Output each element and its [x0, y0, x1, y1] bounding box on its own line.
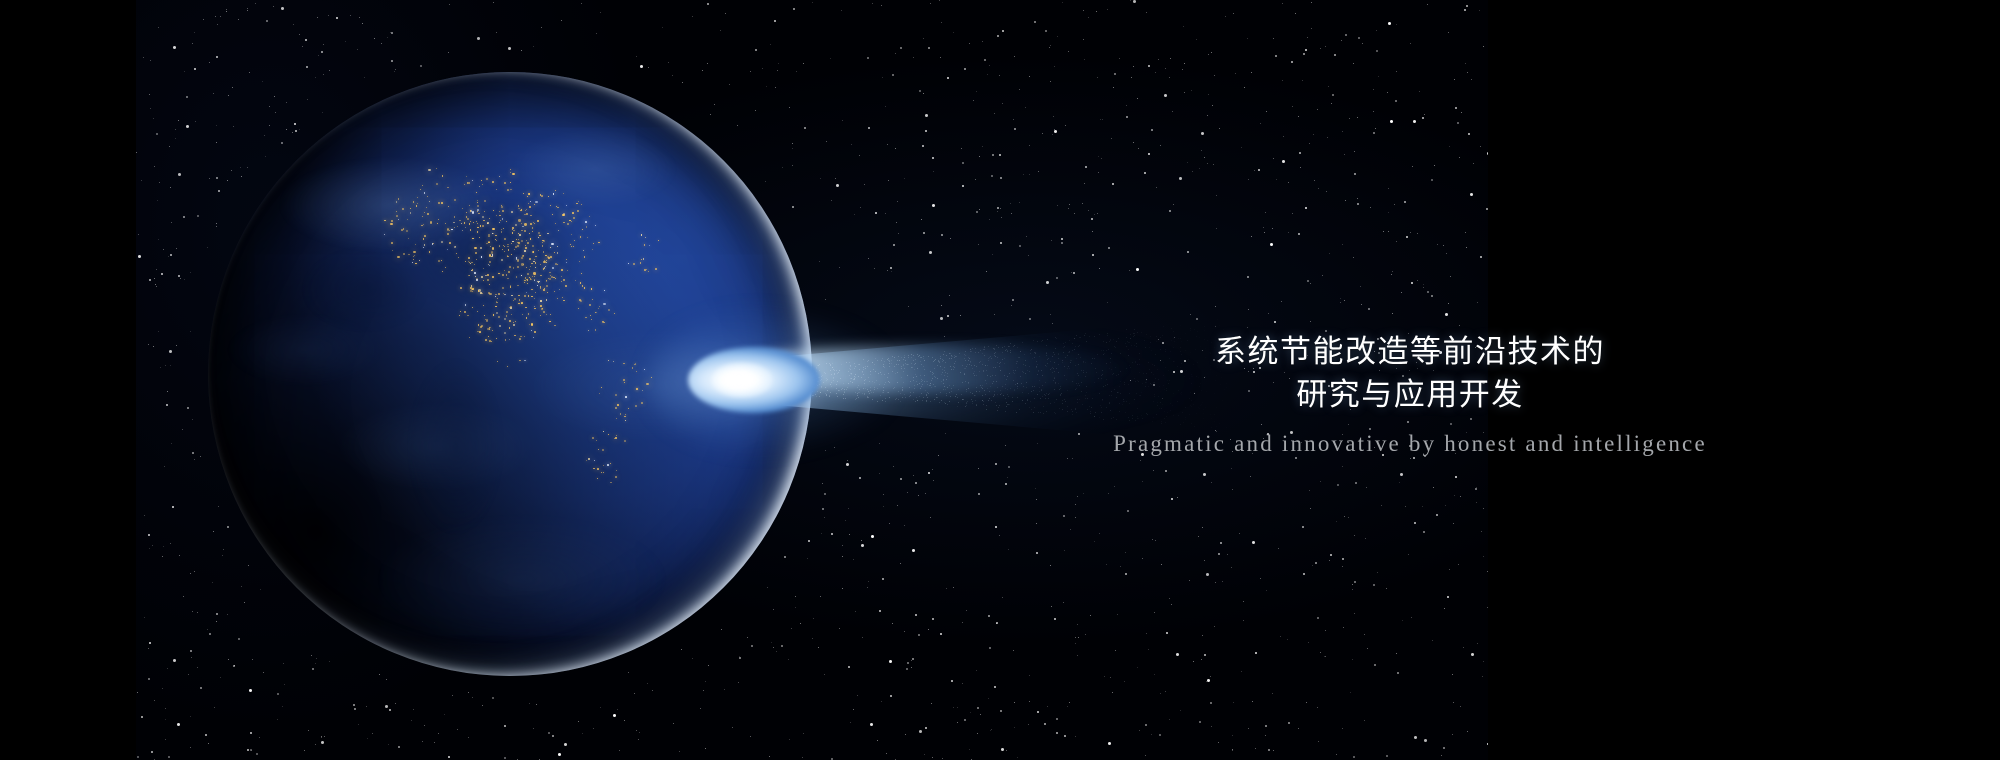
headline-line-2: 研究与应用开发 [900, 373, 1920, 416]
earth-sphere [208, 72, 812, 676]
earth-limb-inner-glow [208, 72, 812, 676]
banner-copy: 系统节能改造等前沿技术的 研究与应用开发 Pragmatic and innov… [900, 330, 1920, 458]
earth-globe [208, 72, 812, 676]
starfield-large [136, 0, 139, 3]
headline: 系统节能改造等前沿技术的 研究与应用开发 [900, 330, 1920, 416]
tagline: Pragmatic and innovative by honest and i… [900, 430, 1920, 458]
hero-banner: 系统节能改造等前沿技术的 研究与应用开发 Pragmatic and innov… [0, 0, 2000, 760]
headline-line-1: 系统节能改造等前沿技术的 [900, 330, 1920, 373]
